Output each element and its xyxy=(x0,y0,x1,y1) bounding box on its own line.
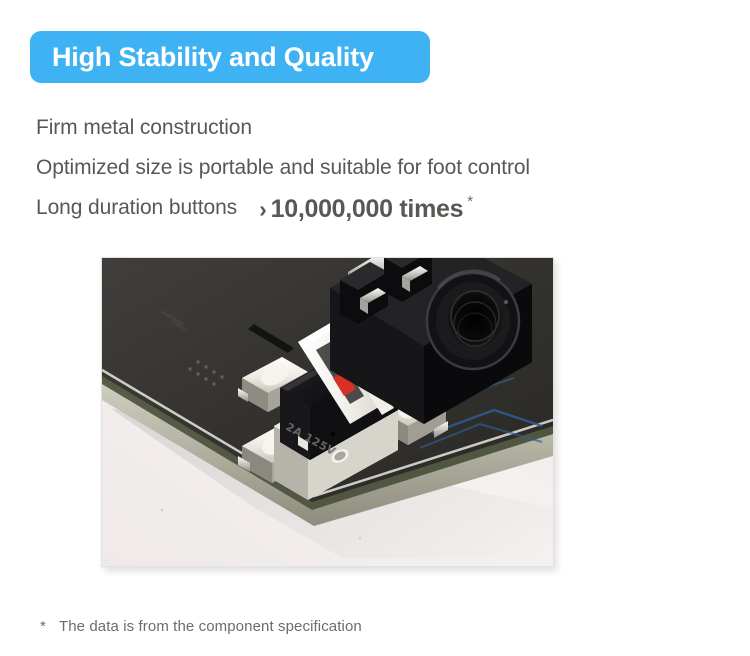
footnote-marker: * xyxy=(467,194,473,209)
feature-item-optimized-size: Optimized size is portable and suitable … xyxy=(36,148,716,188)
feature-heading-badge: High Stability and Quality xyxy=(30,31,430,83)
feature-highlight: › 10,000,000 times * xyxy=(259,195,473,220)
feature-item-metal-construction: Firm metal construction xyxy=(36,108,716,148)
product-photo-illustration: 2A 125V xyxy=(102,258,553,566)
footnote: * The data is from the component specifi… xyxy=(40,618,362,635)
feature-item-label: Optimized size is portable and suitable … xyxy=(36,156,530,179)
feature-list: Firm metal construction Optimized size i… xyxy=(36,108,716,228)
footnote-marker-icon: * xyxy=(40,618,46,635)
feature-heading-label: High Stability and Quality xyxy=(30,42,374,73)
chevron-right-icon: › xyxy=(259,198,267,221)
feature-item-long-duration-buttons: Long duration buttons › 10,000,000 times… xyxy=(36,188,716,228)
product-photo: 2A 125V xyxy=(101,257,554,567)
feature-item-label: Firm metal construction xyxy=(36,116,252,139)
feature-highlight-value: 10,000,000 times xyxy=(271,197,464,222)
feature-item-label: Long duration buttons xyxy=(36,188,237,228)
footnote-text: The data is from the component specifica… xyxy=(59,618,362,635)
